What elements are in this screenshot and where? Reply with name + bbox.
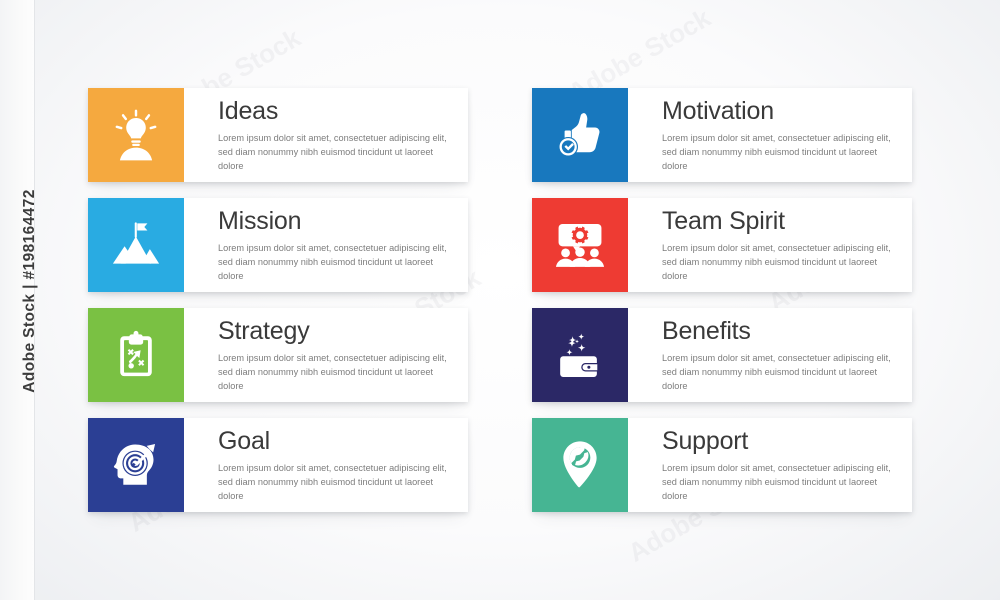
icon-tile-goal [88, 418, 184, 512]
mountain-flag-icon [107, 216, 165, 274]
infographic-item-ideas[interactable]: Ideas Lorem ipsum dolor sit amet, consec… [88, 88, 468, 182]
item-body: Team Spirit Lorem ipsum dolor sit amet, … [662, 198, 906, 292]
infographic-item-team-spirit[interactable]: Team Spirit Lorem ipsum dolor sit amet, … [532, 198, 912, 292]
item-title: Strategy [218, 318, 462, 344]
infographic-item-strategy[interactable]: Strategy Lorem ipsum dolor sit amet, con… [88, 308, 468, 402]
item-description: Lorem ipsum dolor sit amet, consectetuer… [662, 462, 900, 504]
infographic-canvas: Adobe Stock Adobe Stock Adobe Stock Adob… [0, 0, 1000, 600]
item-body: Ideas Lorem ipsum dolor sit amet, consec… [218, 88, 462, 182]
wallet-sparkle-icon [553, 328, 607, 382]
item-title: Support [662, 428, 906, 454]
infographic-item-motivation[interactable]: Motivation Lorem ipsum dolor sit amet, c… [532, 88, 912, 182]
icon-tile-motivation [532, 88, 628, 182]
icon-tile-benefits [532, 308, 628, 402]
head-target-dart-icon [108, 437, 164, 493]
item-title: Benefits [662, 318, 906, 344]
thumbs-up-check-icon [552, 107, 608, 163]
item-title: Motivation [662, 98, 906, 124]
item-body: Strategy Lorem ipsum dolor sit amet, con… [218, 308, 462, 402]
icon-tile-mission [88, 198, 184, 292]
item-body: Motivation Lorem ipsum dolor sit amet, c… [662, 88, 906, 182]
map-pin-wrench-icon [552, 437, 608, 493]
icon-tile-team-spirit [532, 198, 628, 292]
infographic-item-benefits[interactable]: Benefits Lorem ipsum dolor sit amet, con… [532, 308, 912, 402]
item-title: Mission [218, 208, 462, 234]
icon-tile-support [532, 418, 628, 512]
infographic-item-goal[interactable]: Goal Lorem ipsum dolor sit amet, consect… [88, 418, 468, 512]
watermark-strip: Adobe Stock | #198164472 [0, 0, 35, 600]
infographic-grid: Ideas Lorem ipsum dolor sit amet, consec… [88, 88, 912, 528]
item-description: Lorem ipsum dolor sit amet, consectetuer… [218, 242, 456, 284]
item-description: Lorem ipsum dolor sit amet, consectetuer… [218, 132, 456, 174]
item-body: Mission Lorem ipsum dolor sit amet, cons… [218, 198, 462, 292]
item-description: Lorem ipsum dolor sit amet, consectetuer… [218, 352, 456, 394]
item-title: Ideas [218, 98, 462, 124]
clipboard-playbook-icon [109, 328, 163, 382]
lightbulb-person-icon [108, 107, 164, 163]
icon-tile-strategy [88, 308, 184, 402]
team-gear-bubble-icon [552, 217, 608, 273]
item-description: Lorem ipsum dolor sit amet, consectetuer… [662, 132, 900, 174]
item-body: Goal Lorem ipsum dolor sit amet, consect… [218, 418, 462, 512]
item-description: Lorem ipsum dolor sit amet, consectetuer… [662, 242, 900, 284]
item-body: Benefits Lorem ipsum dolor sit amet, con… [662, 308, 906, 402]
item-title: Team Spirit [662, 208, 906, 234]
infographic-item-support[interactable]: Support Lorem ipsum dolor sit amet, cons… [532, 418, 912, 512]
watermark-label: Adobe Stock | #198164472 [21, 11, 39, 571]
icon-tile-ideas [88, 88, 184, 182]
infographic-item-mission[interactable]: Mission Lorem ipsum dolor sit amet, cons… [88, 198, 468, 292]
item-body: Support Lorem ipsum dolor sit amet, cons… [662, 418, 906, 512]
item-description: Lorem ipsum dolor sit amet, consectetuer… [662, 352, 900, 394]
item-title: Goal [218, 428, 462, 454]
item-description: Lorem ipsum dolor sit amet, consectetuer… [218, 462, 456, 504]
